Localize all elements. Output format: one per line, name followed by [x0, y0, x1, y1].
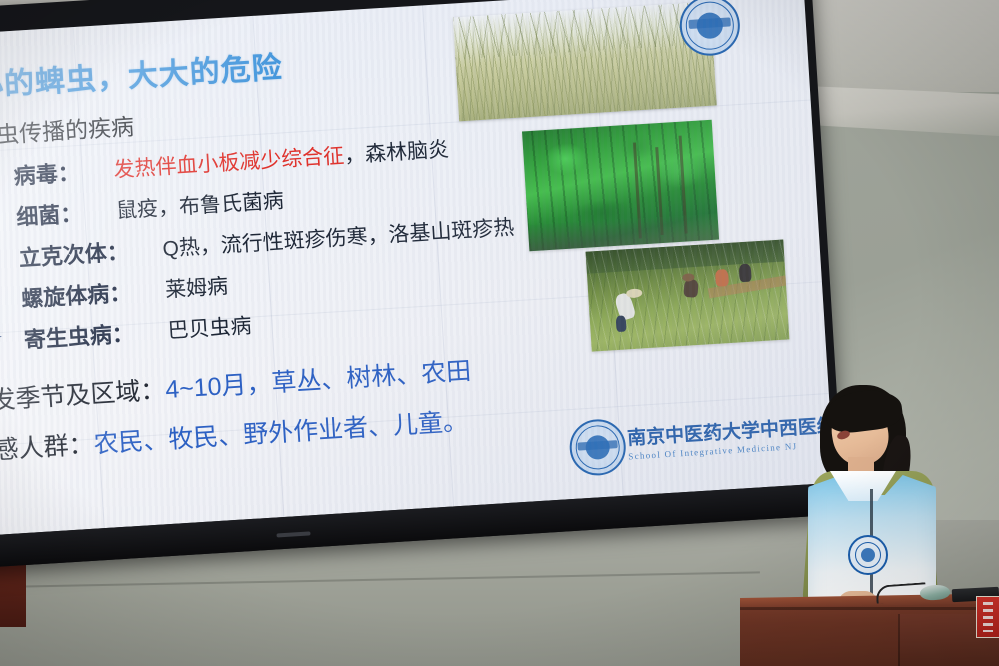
podium-edge	[740, 607, 999, 610]
mouse-cable	[875, 582, 926, 603]
presentation-slide: 小小的蜱虫，大大的危险 蜱虫传播的疾病 ➢ 病毒： 发热伴血小板减少综合征，森林…	[0, 0, 834, 536]
season-label: 高发季节及区域：	[0, 376, 166, 416]
bullet-term: 细菌：	[15, 196, 83, 232]
season-value: 4~10月，草丛、树林、农田	[164, 357, 471, 404]
university-emblem-icon	[568, 418, 627, 477]
farmer-figure	[715, 269, 729, 287]
projection-screen: 小小的蜱虫，大大的危险 蜱虫传播的疾病 ➢ 病毒： 发热伴血小板减少综合征，森林…	[0, 0, 844, 568]
slide-subtitle: 蜱虫传播的疾病	[0, 108, 135, 152]
farmer-figure	[683, 279, 698, 298]
screen-surface: 小小的蜱虫，大大的危险 蜱虫传播的疾病 ➢ 病毒： 发热伴血小板减少综合征，森林…	[0, 0, 834, 536]
farmer-figure	[739, 264, 752, 283]
green-forest-photo	[522, 120, 719, 252]
bullet-term: 螺旋体病：	[20, 275, 132, 314]
bullet-arrow-icon: ➢	[0, 326, 3, 348]
bullet-arrow-icon: ➢	[0, 285, 1, 307]
lecture-hall-scene: 小小的蜱虫，大大的危险 蜱虫传播的疾病 ➢ 病毒： 发热伴血小板减少综合征，森林…	[0, 0, 999, 666]
bullet-rest: 巴贝虫病	[167, 310, 253, 345]
farmers-in-field-photo	[586, 240, 790, 352]
tall-dry-grass-photo	[453, 2, 717, 122]
bullet-rest-red: 发热伴血小板减少综合征	[113, 145, 345, 182]
bullet-rest: 莱姆病	[164, 270, 229, 304]
slide-title: 小小的蜱虫，大大的危险	[0, 42, 284, 107]
disease-bullet-list: ➢ 病毒： 发热伴血小板减少综合征，森林脑炎 ➢ 细菌： 鼠疫，布鲁氏菌病 ➢ …	[0, 127, 548, 366]
people-value: 农民、牧民、野外作业者、儿童。	[93, 407, 469, 458]
bullet-term: 寄生虫病：	[23, 316, 135, 355]
bullet-term: 病毒：	[13, 155, 81, 191]
bullet-term: 立克次体：	[18, 234, 130, 273]
red-name-card	[976, 596, 999, 638]
vest-emblem-badge	[848, 535, 888, 575]
people-label: 易感人群：	[0, 431, 94, 467]
bullet-rest-post: ，森林脑炎	[343, 138, 449, 167]
farmer-legs	[616, 315, 627, 332]
